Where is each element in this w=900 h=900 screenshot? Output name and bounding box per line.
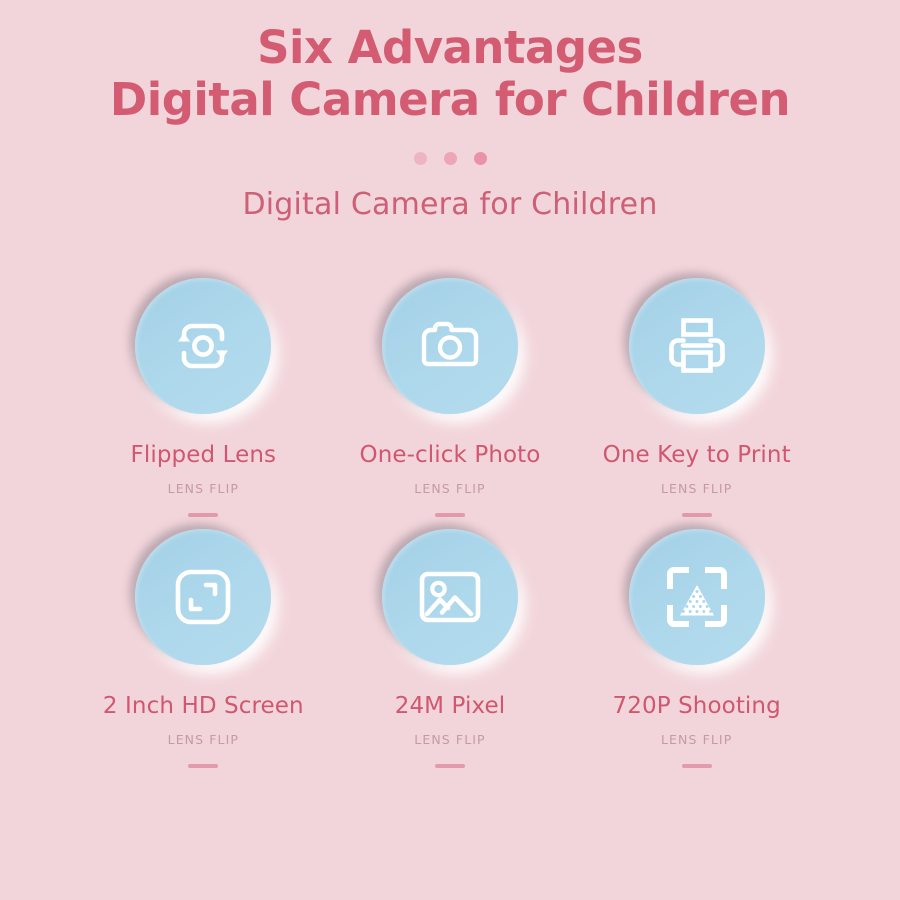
feature-divider <box>682 513 712 517</box>
header: Six Advantages Digital Camera for Childr… <box>0 0 900 222</box>
feature-divider <box>188 513 218 517</box>
feature-sublabel: LENS FLIP <box>661 732 732 747</box>
feature-item-one-key-to-print[interactable]: One Key to Print LENS FLIP <box>573 278 820 517</box>
icon-circle-wrap <box>629 529 765 665</box>
feature-label: One-click Photo <box>360 442 541 468</box>
promo-page: Six Advantages Digital Camera for Childr… <box>0 0 900 900</box>
icon-circle-wrap <box>135 278 271 414</box>
feature-divider <box>188 764 218 768</box>
icon-circle <box>629 278 765 414</box>
flip-lens-icon <box>170 318 236 374</box>
feature-item-2-inch-hd-screen[interactable]: 2 Inch HD Screen LENS FLIP <box>80 529 327 768</box>
feature-divider <box>682 764 712 768</box>
icon-circle <box>629 529 765 665</box>
icon-circle-wrap <box>135 529 271 665</box>
icon-circle-wrap <box>629 278 765 414</box>
feature-label: One Key to Print <box>603 442 791 468</box>
feature-label: 24M Pixel <box>395 693 506 719</box>
dot-2-icon <box>444 152 457 165</box>
camera-icon <box>416 318 484 374</box>
feature-sublabel: LENS FLIP <box>414 732 485 747</box>
page-subtitle: Digital Camera for Children <box>0 187 900 222</box>
dot-3-icon <box>474 152 487 165</box>
feature-label: 2 Inch HD Screen <box>103 693 304 719</box>
feature-label: Flipped Lens <box>131 442 277 468</box>
decorative-dots <box>0 152 900 165</box>
feature-divider <box>435 513 465 517</box>
page-title-line-2: Digital Camera for Children <box>0 74 900 126</box>
icon-circle <box>382 278 518 414</box>
feature-item-flipped-lens[interactable]: Flipped Lens LENS FLIP <box>80 278 327 517</box>
feature-sublabel: LENS FLIP <box>168 732 239 747</box>
icon-circle <box>135 529 271 665</box>
feature-sublabel: LENS FLIP <box>661 481 732 496</box>
icon-circle <box>382 529 518 665</box>
feature-label: 720P Shooting <box>613 693 781 719</box>
screen-expand-icon <box>173 567 233 627</box>
printer-icon <box>666 315 728 377</box>
focus-frame-icon <box>666 566 728 628</box>
feature-item-one-click-photo[interactable]: One-click Photo LENS FLIP <box>327 278 574 517</box>
icon-circle <box>135 278 271 414</box>
feature-item-720p-shooting[interactable]: 720P Shooting LENS FLIP <box>573 529 820 768</box>
dot-1-icon <box>414 152 427 165</box>
page-title-line-1: Six Advantages <box>0 22 900 74</box>
feature-divider <box>435 764 465 768</box>
feature-item-24m-pixel[interactable]: 24M Pixel LENS FLIP <box>327 529 574 768</box>
image-photo-icon <box>418 570 482 624</box>
icon-circle-wrap <box>382 529 518 665</box>
feature-sublabel: LENS FLIP <box>414 481 485 496</box>
feature-grid: Flipped Lens LENS FLIP One-click Photo L… <box>0 278 900 768</box>
feature-sublabel: LENS FLIP <box>168 481 239 496</box>
icon-circle-wrap <box>382 278 518 414</box>
